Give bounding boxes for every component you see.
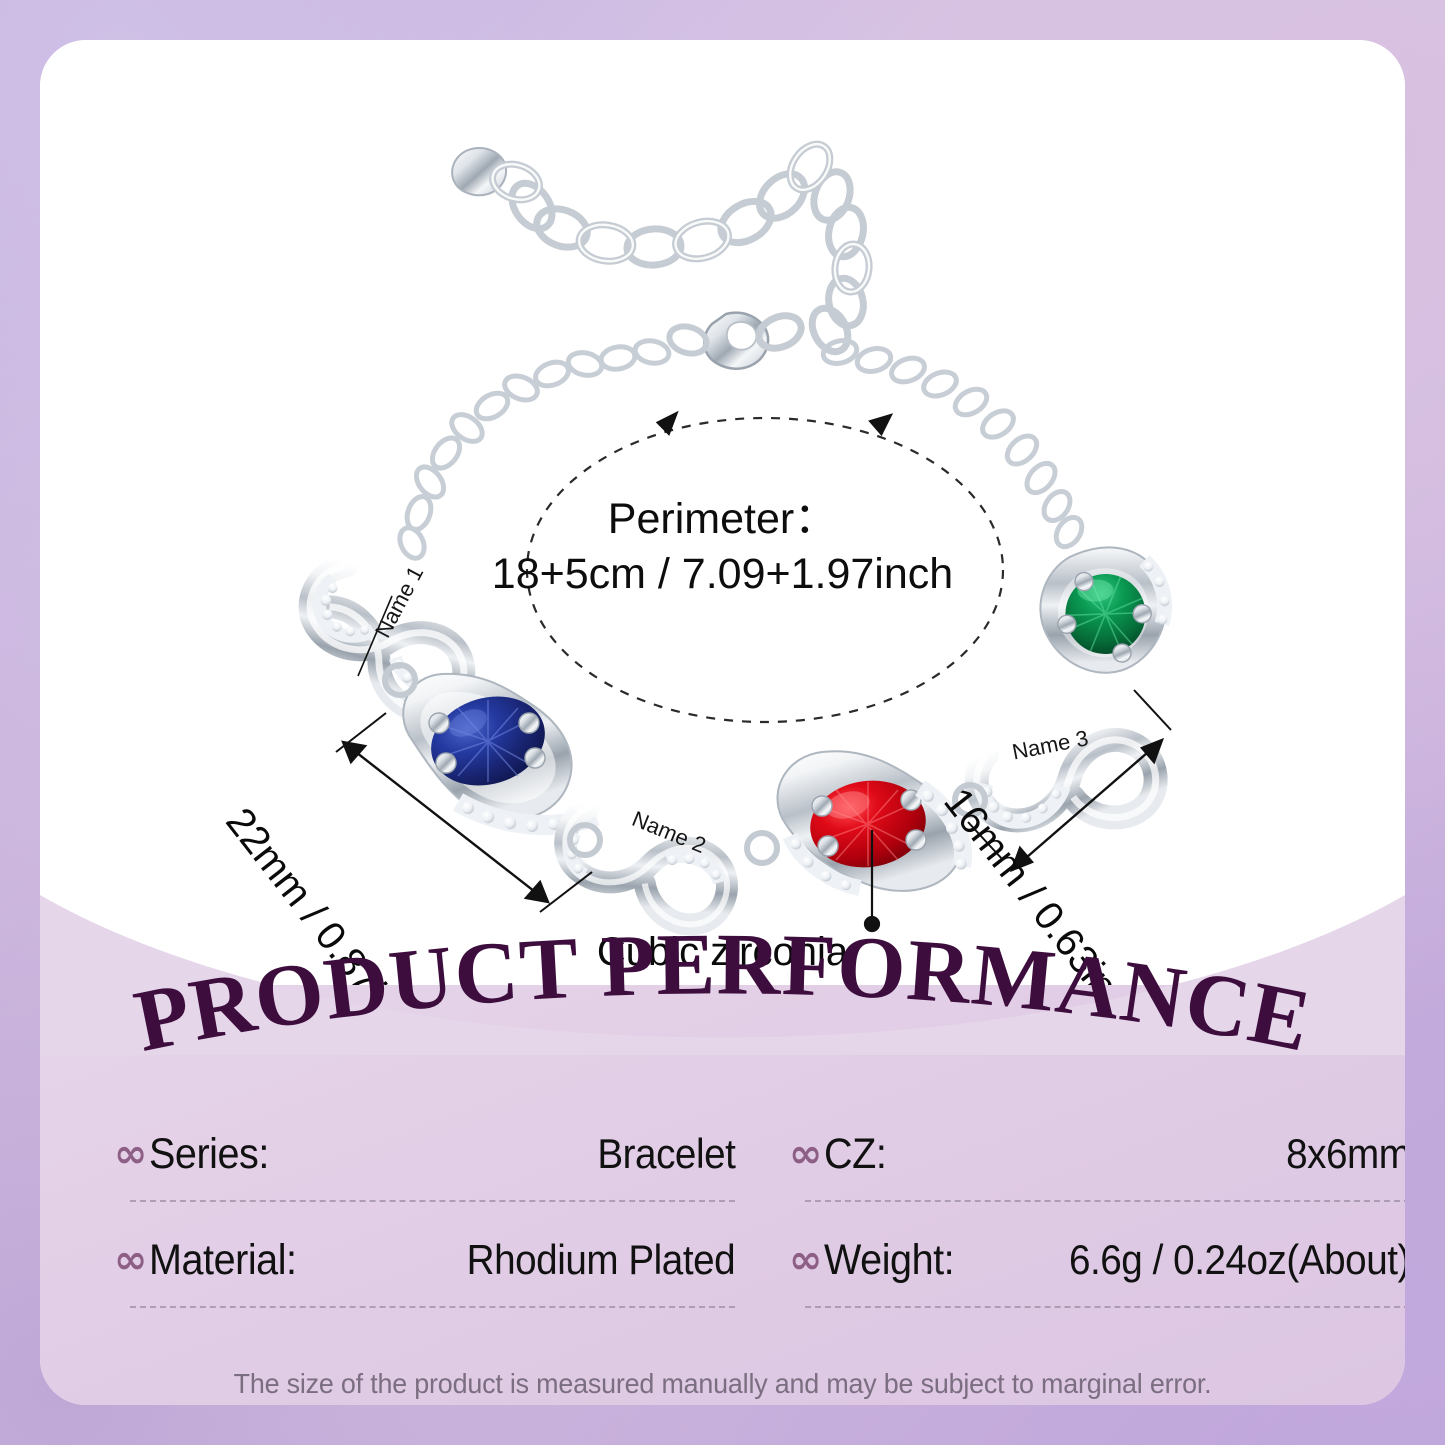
spec-divider	[805, 1306, 1405, 1308]
spec-label: Material:	[149, 1236, 297, 1285]
infinity-icon: ∞	[789, 1134, 822, 1174]
product-photo: Perimeter： 18+5cm / 7.09+1.97inch 22mm /…	[40, 40, 1405, 970]
product-card: Perimeter： 18+5cm / 7.09+1.97inch 22mm /…	[40, 40, 1405, 1405]
spec-row: ∞ Series: Bracelet ∞ CZ: 8x6mm	[102, 1118, 1405, 1224]
lobster-clasp	[666, 310, 806, 369]
pendant-blue-gem	[403, 674, 596, 832]
spec-value: Rhodium Plated	[467, 1236, 739, 1284]
spec-row: ∞ Material: Rhodium Plated ∞ Weight: 6.6…	[102, 1224, 1405, 1330]
perimeter-line-2: 18+5cm / 7.09+1.97inch	[40, 547, 1405, 602]
spec-divider	[130, 1200, 735, 1202]
perimeter-line-1: Perimeter：	[40, 492, 1405, 547]
infinity-icon: ∞	[114, 1240, 147, 1280]
spec-cell-weight: ∞ Weight: 6.6g / 0.24oz(About)	[777, 1224, 1405, 1330]
spec-cell-material: ∞ Material: Rhodium Plated	[102, 1224, 747, 1330]
section-title: PRODUCT PERFORMANCE	[40, 962, 1405, 1082]
infographic-frame: Perimeter： 18+5cm / 7.09+1.97inch 22mm /…	[0, 0, 1445, 1445]
spec-label: Series:	[149, 1130, 269, 1179]
spec-label: Weight:	[824, 1236, 954, 1285]
spec-label: CZ:	[824, 1130, 886, 1179]
infinity-icon: ∞	[789, 1240, 822, 1280]
spec-value: Bracelet	[597, 1130, 739, 1178]
spec-value: 6.6g / 0.24oz(About)	[1069, 1236, 1405, 1284]
spec-cell-cz: ∞ CZ: 8x6mm	[777, 1118, 1405, 1224]
spec-divider	[130, 1306, 735, 1308]
measurement-disclaimer: The size of the product is measured manu…	[67, 1368, 1377, 1400]
spec-value: 8x6mm	[1286, 1130, 1405, 1178]
spec-divider	[805, 1200, 1405, 1202]
perimeter-label: Perimeter： 18+5cm / 7.09+1.97inch	[40, 492, 1405, 602]
infinity-icon: ∞	[114, 1134, 147, 1174]
perimeter-arrows	[655, 411, 893, 437]
spec-cell-series: ∞ Series: Bracelet	[102, 1118, 747, 1224]
spec-table: ∞ Series: Bracelet ∞ CZ: 8x6mm	[102, 1118, 1405, 1330]
